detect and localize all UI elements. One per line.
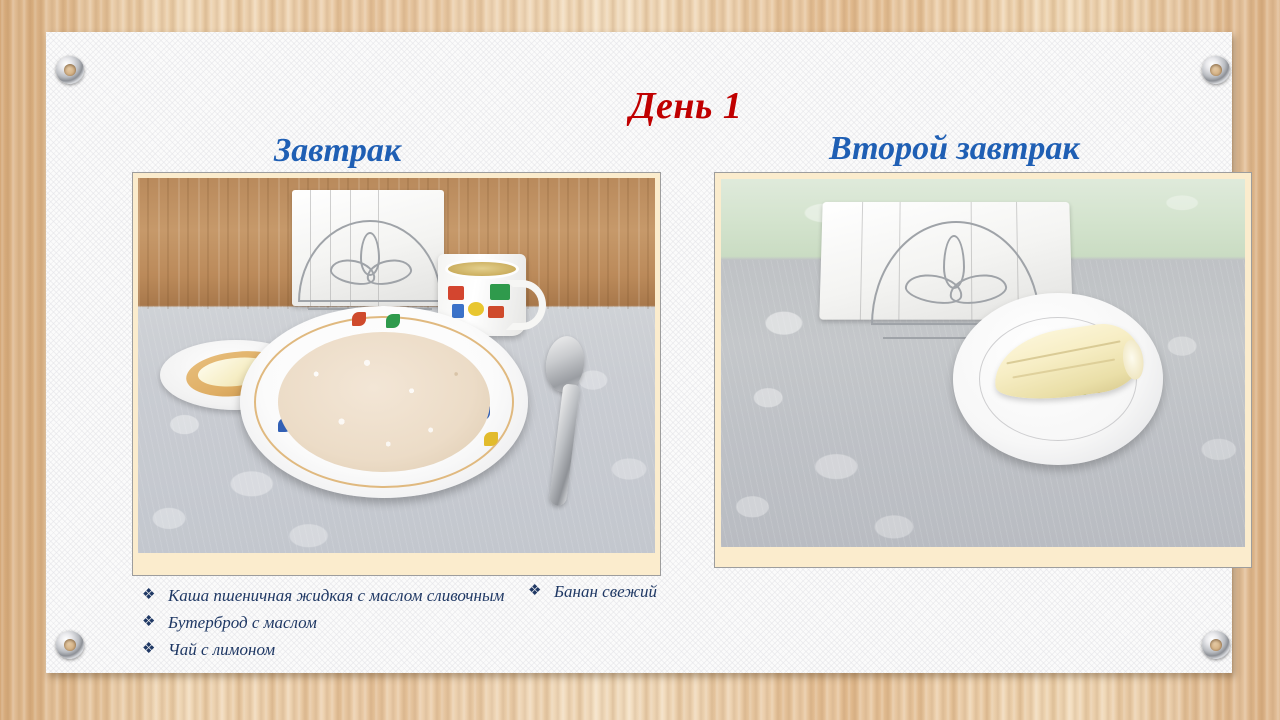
list-item[interactable]: ❖ Банан свежий — [528, 578, 928, 605]
banana-ridge — [1012, 358, 1115, 378]
tea-surface — [445, 259, 519, 279]
list-item[interactable]: ❖ Чай с лимоном — [142, 636, 642, 663]
diamond-bullet-icon: ❖ — [142, 609, 168, 636]
photo-frame-second-breakfast — [714, 172, 1252, 568]
cup-decor-blue — [452, 304, 464, 318]
menu-list-second-breakfast: ❖ Банан свежий — [528, 578, 928, 605]
page-title: День 1 — [476, 84, 896, 128]
saucer — [953, 293, 1163, 465]
list-item-label: Бутерброд с маслом — [168, 609, 317, 636]
paper-panel: День 1 Завтрак Второй завтрак — [46, 32, 1232, 673]
list-item-label: Каша пшеничная жидкая с маслом сливочным — [168, 582, 504, 609]
cup-decor-green — [490, 284, 510, 300]
photo-frame-breakfast — [132, 172, 661, 576]
bowl-decor-red — [352, 312, 366, 326]
list-item-label: Банан свежий — [554, 578, 657, 605]
photo-banana — [721, 179, 1245, 547]
diamond-bullet-icon: ❖ — [142, 636, 168, 663]
grommet-top-left — [56, 56, 84, 84]
napkin-holder-base — [300, 300, 440, 302]
section-heading-breakfast: Завтрак — [274, 132, 401, 170]
bowl-decor-green — [386, 314, 400, 328]
porridge-bowl — [240, 306, 528, 498]
porridge — [278, 332, 490, 472]
bowl-decor-yellow — [484, 432, 498, 446]
list-item[interactable]: ❖ Бутерброд с маслом — [142, 609, 642, 636]
section-heading-second-breakfast: Второй завтрак — [829, 130, 1080, 168]
photo-breakfast — [138, 178, 655, 553]
grommet-bottom-left — [56, 631, 84, 659]
diamond-bullet-icon: ❖ — [528, 578, 554, 605]
list-item-label: Чай с лимоном — [168, 636, 275, 663]
diamond-bullet-icon: ❖ — [142, 582, 168, 609]
cup-decor-red — [448, 286, 464, 300]
cup-decor-red2 — [488, 306, 504, 318]
banana-cut-end — [1121, 339, 1146, 381]
grommet-top-right — [1202, 56, 1230, 84]
slide-canvas: День 1 Завтрак Второй завтрак — [0, 0, 1280, 720]
cup-decor-yellow — [468, 302, 484, 316]
grommet-bottom-right — [1202, 631, 1230, 659]
